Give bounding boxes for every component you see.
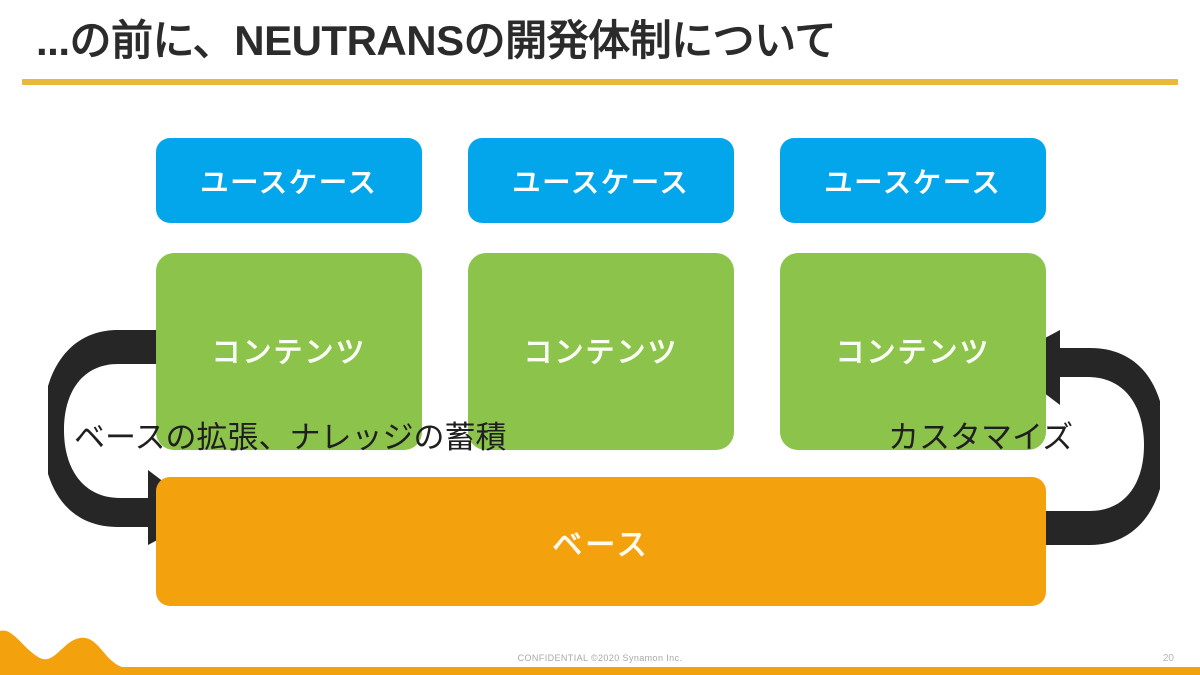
content-label-3: コンテンツ: [835, 329, 990, 371]
bottom-left-wave-decoration: [0, 605, 320, 675]
base-bar[interactable]: ベース: [156, 477, 1046, 606]
customize-arrow-caption: カスタマイズ: [888, 421, 1073, 455]
title-block: ...の前に、NEUTRANSの開発体制について: [0, 0, 1200, 100]
expand-arrow-caption: ベースの拡張、ナレッジの蓄積: [74, 421, 506, 455]
confidential-footer: CONFIDENTIAL ©2020 Synamon Inc.: [0, 653, 1200, 663]
page-number: 20: [1163, 653, 1174, 664]
base-label: ベース: [552, 520, 650, 564]
page-title: ...の前に、NEUTRANSの開発体制について: [36, 14, 836, 68]
content-box-2[interactable]: コンテンツ: [468, 253, 734, 450]
usecase-label-2: ユースケース: [512, 161, 689, 201]
title-underline-rule: [22, 79, 1178, 85]
slide-canvas: ...の前に、NEUTRANSの開発体制について ユースケース コンテンツ ユー…: [0, 0, 1200, 675]
usecase-label-1: ユースケース: [200, 161, 377, 201]
content-label-2: コンテンツ: [523, 329, 678, 371]
usecase-box-2[interactable]: ユースケース: [468, 138, 734, 223]
usecase-box-1[interactable]: ユースケース: [156, 138, 422, 223]
usecase-box-3[interactable]: ユースケース: [780, 138, 1046, 223]
usecase-label-3: ユースケース: [824, 161, 1001, 201]
content-label-1: コンテンツ: [211, 329, 366, 371]
